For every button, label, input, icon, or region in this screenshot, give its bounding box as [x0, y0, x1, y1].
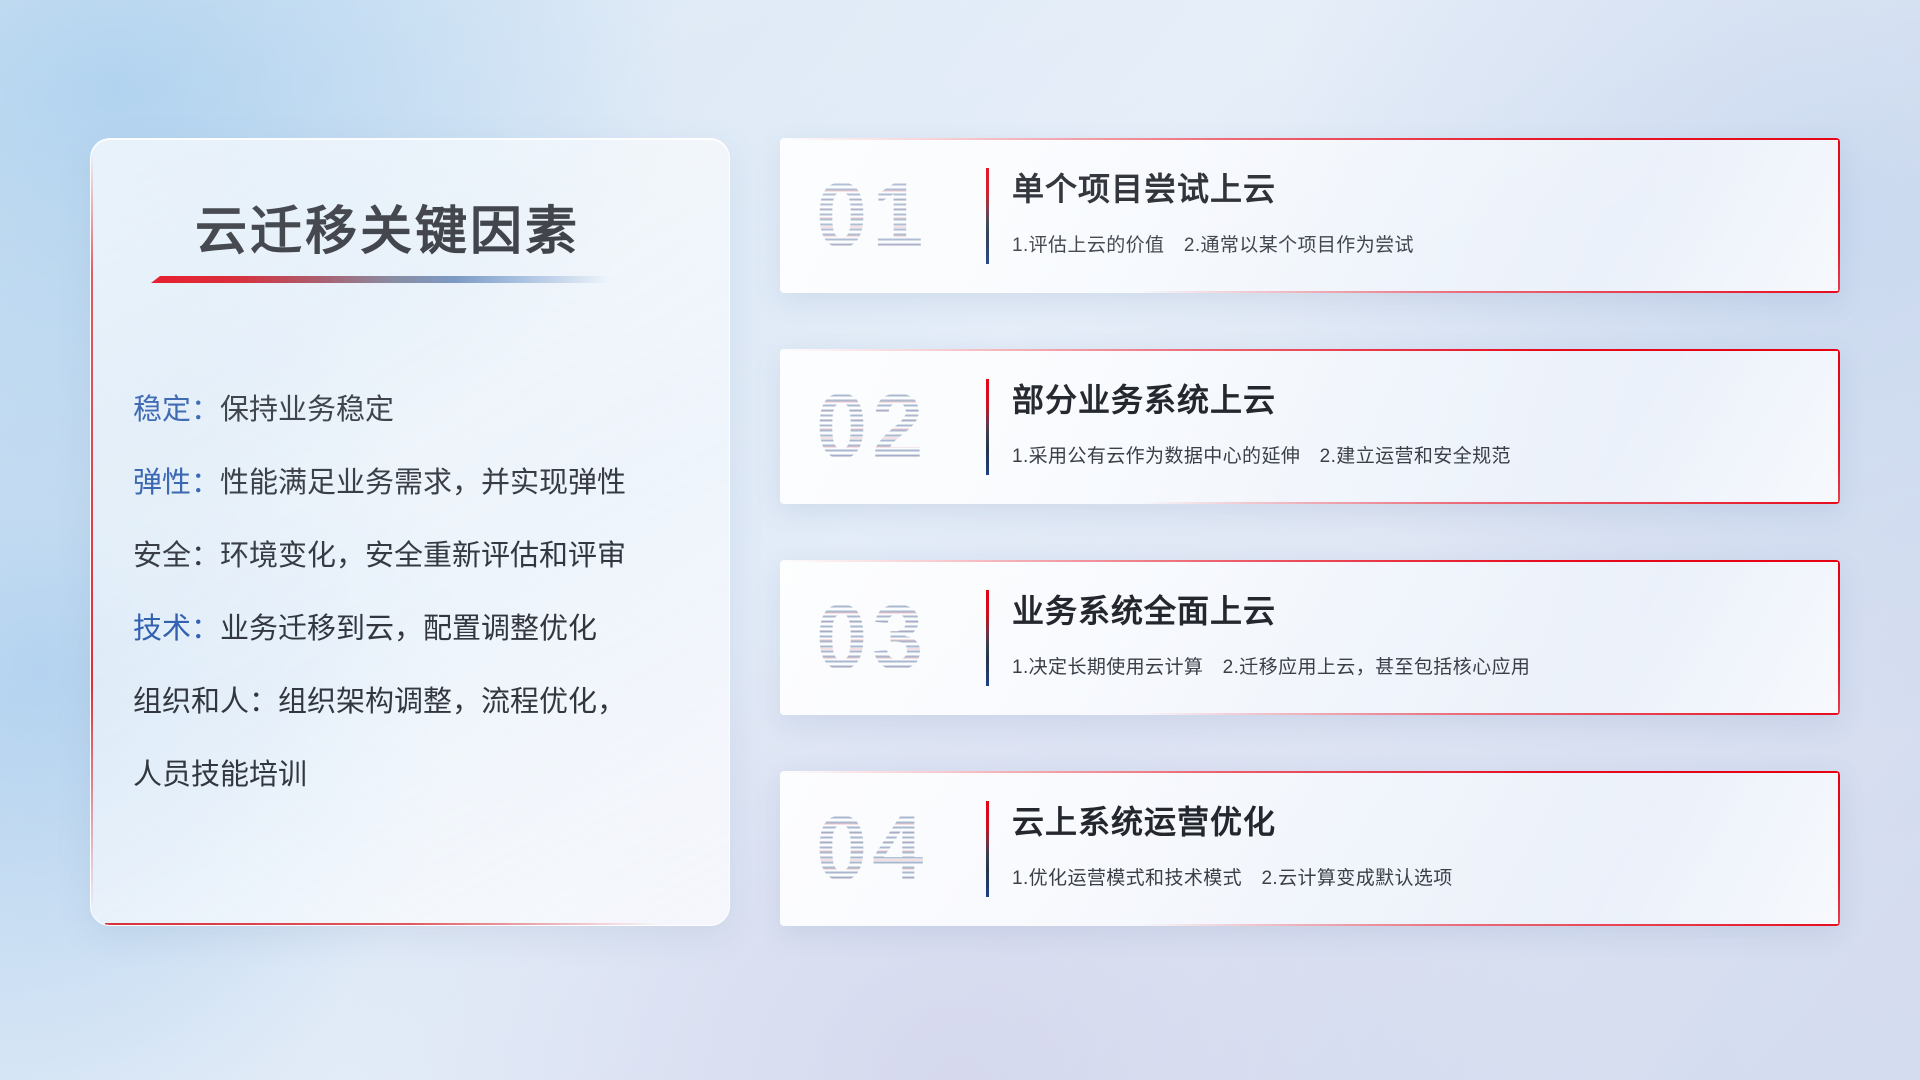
title-underline-rule: [151, 276, 611, 283]
stage-card-body: 云上系统运营优化 1.优化运营模式和技术模式 2.云计算变成默认选项: [1012, 797, 1814, 890]
stage-description: 1.评估上云的价值 2.通常以某个项目作为尝试: [1012, 230, 1814, 257]
key-factors-panel: 云迁移关键因素 稳定：保持业务稳定 弹性：性能满足业务需求，并实现弹性 安全：环…: [90, 138, 730, 926]
stage-title: 云上系统运营优化: [1012, 797, 1814, 843]
stage-title: 业务系统全面上云: [1012, 586, 1814, 632]
stage-card-02[interactable]: 02 02 部分业务系统上云 1.采用公有云作为数据中心的延伸 2.建立运营和安…: [780, 349, 1840, 504]
factor-text: 性能满足业务需求，并实现弹性: [220, 467, 626, 499]
factor-text: 业务迁移到云，配置调整优化: [220, 613, 597, 645]
card-bottom-accent: [1140, 502, 1840, 504]
factor-label: 安全：: [133, 540, 220, 572]
factor-label: 技术：: [133, 613, 220, 645]
factor-item-stability: 稳定：保持业务稳定: [133, 374, 705, 447]
factor-label: 组织和人：: [133, 686, 278, 718]
stage-description: 1.采用公有云作为数据中心的延伸 2.建立运营和安全规范: [1012, 441, 1814, 468]
factor-text: 环境变化，安全重新评估和评审: [220, 540, 626, 572]
card-bottom-accent: [1140, 713, 1840, 715]
factor-text: 保持业务稳定: [220, 394, 394, 426]
stage-card-body: 业务系统全面上云 1.决定长期使用云计算 2.迁移应用上云，甚至包括核心应用: [1012, 586, 1814, 679]
stage-number: 03: [816, 585, 928, 690]
factor-label: 稳定：: [133, 394, 220, 426]
stage-divider-icon: [986, 168, 989, 264]
factor-item-elasticity: 弹性：性能满足业务需求，并实现弹性: [133, 447, 705, 520]
slide-canvas: 云迁移关键因素 稳定：保持业务稳定 弹性：性能满足业务需求，并实现弹性 安全：环…: [0, 0, 1920, 1080]
stage-divider-icon: [986, 801, 989, 897]
factor-list: 稳定：保持业务稳定 弹性：性能满足业务需求，并实现弹性 安全：环境变化，安全重新…: [133, 374, 705, 812]
factor-item-technology: 技术：业务迁移到云，配置调整优化: [133, 593, 705, 666]
factor-text: 人员技能培训: [133, 759, 307, 791]
stage-title: 单个项目尝试上云: [1012, 164, 1814, 210]
migration-stage-cards: 01 01 单个项目尝试上云 1.评估上云的价值 2.通常以某个项目作为尝试 0…: [780, 138, 1840, 982]
stage-description: 1.决定长期使用云计算 2.迁移应用上云，甚至包括核心应用: [1012, 652, 1814, 679]
factor-item-organization-cont: 人员技能培训: [133, 739, 705, 812]
factor-text: 组织架构调整，流程优化，: [278, 686, 626, 718]
stage-card-01[interactable]: 01 01 单个项目尝试上云 1.评估上云的价值 2.通常以某个项目作为尝试: [780, 138, 1840, 293]
stage-divider-icon: [986, 379, 989, 475]
factor-item-security: 安全：环境变化，安全重新评估和评审: [133, 520, 705, 593]
card-bottom-accent: [1140, 924, 1840, 926]
factor-label: 弹性：: [133, 467, 220, 499]
factor-item-organization: 组织和人：组织架构调整，流程优化，: [133, 666, 705, 739]
stage-card-body: 单个项目尝试上云 1.评估上云的价值 2.通常以某个项目作为尝试: [1012, 164, 1814, 257]
stage-card-03[interactable]: 03 03 业务系统全面上云 1.决定长期使用云计算 2.迁移应用上云，甚至包括…: [780, 560, 1840, 715]
stage-number: 01: [816, 163, 928, 268]
stage-title: 部分业务系统上云: [1012, 375, 1814, 421]
stage-divider-icon: [986, 590, 989, 686]
stage-card-body: 部分业务系统上云 1.采用公有云作为数据中心的延伸 2.建立运营和安全规范: [1012, 375, 1814, 468]
stage-description: 1.优化运营模式和技术模式 2.云计算变成默认选项: [1012, 863, 1814, 890]
stage-number: 02: [816, 374, 928, 479]
stage-number: 04: [816, 796, 928, 901]
card-bottom-accent: [1140, 291, 1840, 293]
stage-card-04[interactable]: 04 04 云上系统运营优化 1.优化运营模式和技术模式 2.云计算变成默认选项: [780, 771, 1840, 926]
page-title: 云迁移关键因素: [195, 189, 580, 264]
